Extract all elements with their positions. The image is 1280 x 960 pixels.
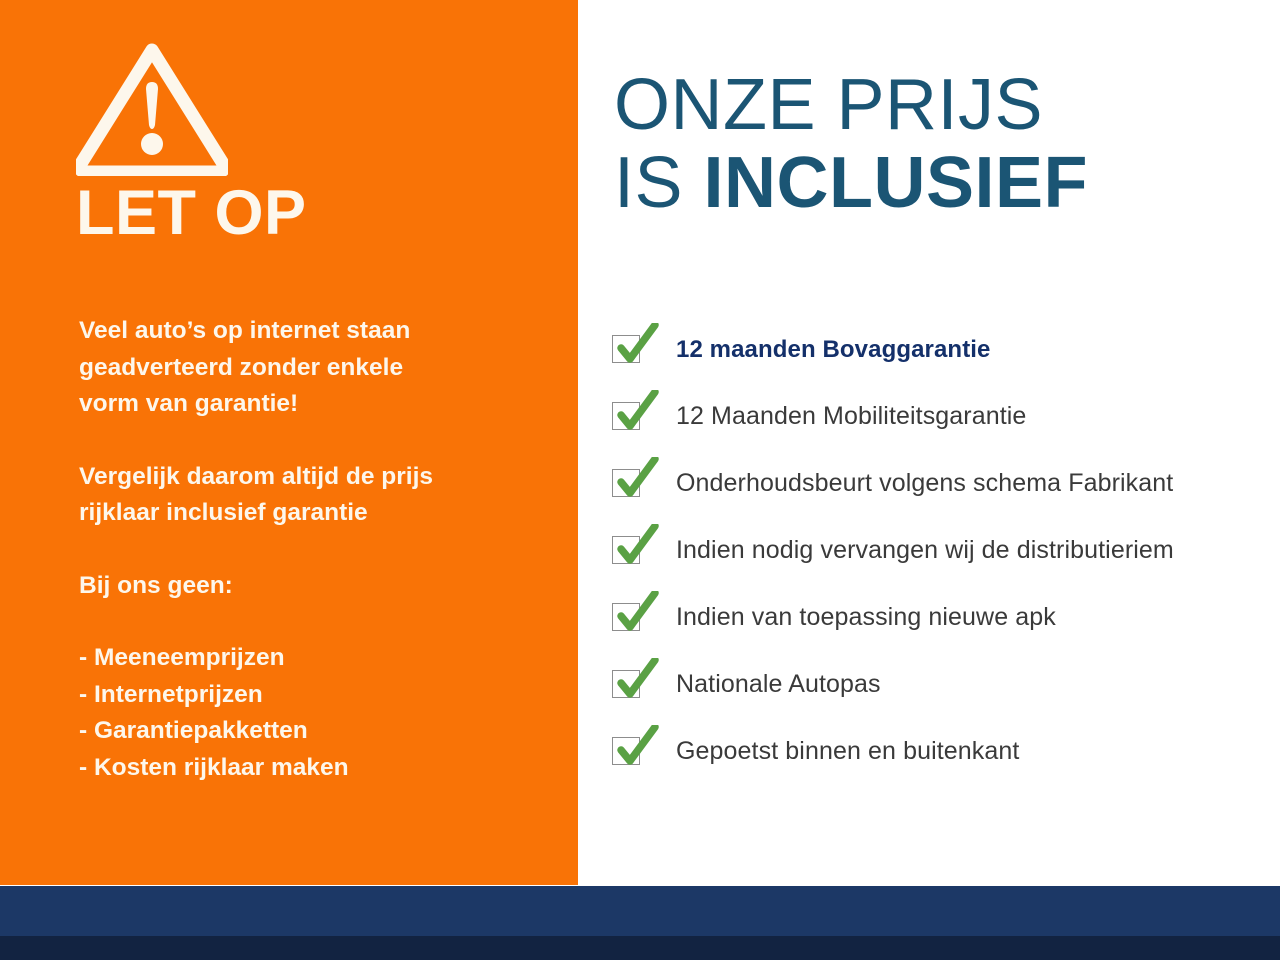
checklist-item-label: 12 maanden Bovaggarantie — [660, 336, 991, 364]
left-warning-panel: LET OP Veel auto’s op internet staan gea… — [0, 0, 578, 885]
list-item: - Garantiepakketten — [79, 713, 559, 750]
checklist-item-label: Indien van toepassing nieuwe apk — [660, 603, 1056, 632]
headline-line-1: ONZE PRIJS — [614, 66, 1088, 144]
checklist-item-label: Nationale Autopas — [660, 670, 881, 699]
paragraph-3-line-1: Bij ons geen: — [79, 572, 233, 599]
checklist-item-label: Indien nodig vervangen wij de distributi… — [660, 536, 1174, 565]
headline-line-2-bold: INCLUSIEF — [704, 143, 1089, 223]
warning-triangle-icon — [76, 42, 228, 176]
checklist-item: Indien van toepassing nieuwe apk — [612, 584, 1272, 651]
checkmark-icon — [612, 662, 660, 708]
checklist-item-label: 12 Maanden Mobiliteitsgarantie — [660, 402, 1026, 431]
checklist-item: 12 maanden Bovaggarantie — [612, 316, 1272, 383]
paragraph-1-line-3: vorm van garantie! — [79, 390, 298, 417]
spacer — [79, 532, 559, 568]
checklist-item: Indien nodig vervangen wij de distributi… — [612, 517, 1272, 584]
promo-banner: LET OP Veel auto’s op internet staan gea… — [0, 0, 1280, 960]
checklist-item: 12 Maanden Mobiliteitsgarantie — [612, 383, 1272, 450]
paragraph-2: Vergelijk daarom altijd de prijs rijklaa… — [79, 459, 559, 532]
exclusions-list: - Meeneemprijzen - Internetprijzen - Gar… — [79, 640, 559, 786]
paragraph-1-line-2: geadverteerd zonder enkele — [79, 354, 403, 381]
checkmark-icon — [612, 394, 660, 440]
let-op-title: LET OP — [76, 182, 307, 245]
checklist-item: Onderhoudsbeurt volgens schema Fabrikant — [612, 450, 1272, 517]
checkmark-icon — [612, 461, 660, 507]
right-inclusive-panel: ONZE PRIJS IS INCLUSIEF 12 maanden Bovag… — [578, 0, 1280, 885]
paragraph-1: Veel auto’s op internet staan geadvertee… — [79, 313, 559, 423]
checkmark-icon — [612, 327, 660, 373]
inclusive-checklist: 12 maanden Bovaggarantie 12 Maanden Mobi… — [612, 316, 1272, 785]
headline-line-2-light: IS — [614, 143, 704, 223]
headline-line-2: IS INCLUSIEF — [614, 144, 1088, 222]
paragraph-2-line-1: Vergelijk daarom altijd de prijs — [79, 463, 433, 490]
left-body-copy: Veel auto’s op internet staan geadvertee… — [79, 313, 559, 786]
checkmark-icon — [612, 528, 660, 574]
spacer — [79, 604, 559, 640]
list-item: - Meeneemprijzen — [79, 640, 559, 677]
list-item: - Kosten rijklaar maken — [79, 750, 559, 787]
page-title: ONZE PRIJS IS INCLUSIEF — [614, 66, 1088, 222]
checklist-item: Nationale Autopas — [612, 651, 1272, 718]
checklist-item: Gepoetst binnen en buitenkant — [612, 718, 1272, 785]
spacer — [79, 423, 559, 459]
paragraph-1-line-1: Veel auto’s op internet staan — [79, 317, 410, 344]
checklist-item-label: Gepoetst binnen en buitenkant — [660, 737, 1019, 766]
footer-band-navy-dark — [0, 936, 1280, 960]
list-item: - Internetprijzen — [79, 677, 559, 714]
checkmark-icon — [612, 595, 660, 641]
paragraph-2-line-2: rijklaar inclusief garantie — [79, 499, 368, 526]
checklist-item-label: Onderhoudsbeurt volgens schema Fabrikant — [660, 469, 1173, 498]
paragraph-3: Bij ons geen: — [79, 568, 559, 605]
footer-band-navy — [0, 886, 1280, 936]
checkmark-icon — [612, 729, 660, 775]
